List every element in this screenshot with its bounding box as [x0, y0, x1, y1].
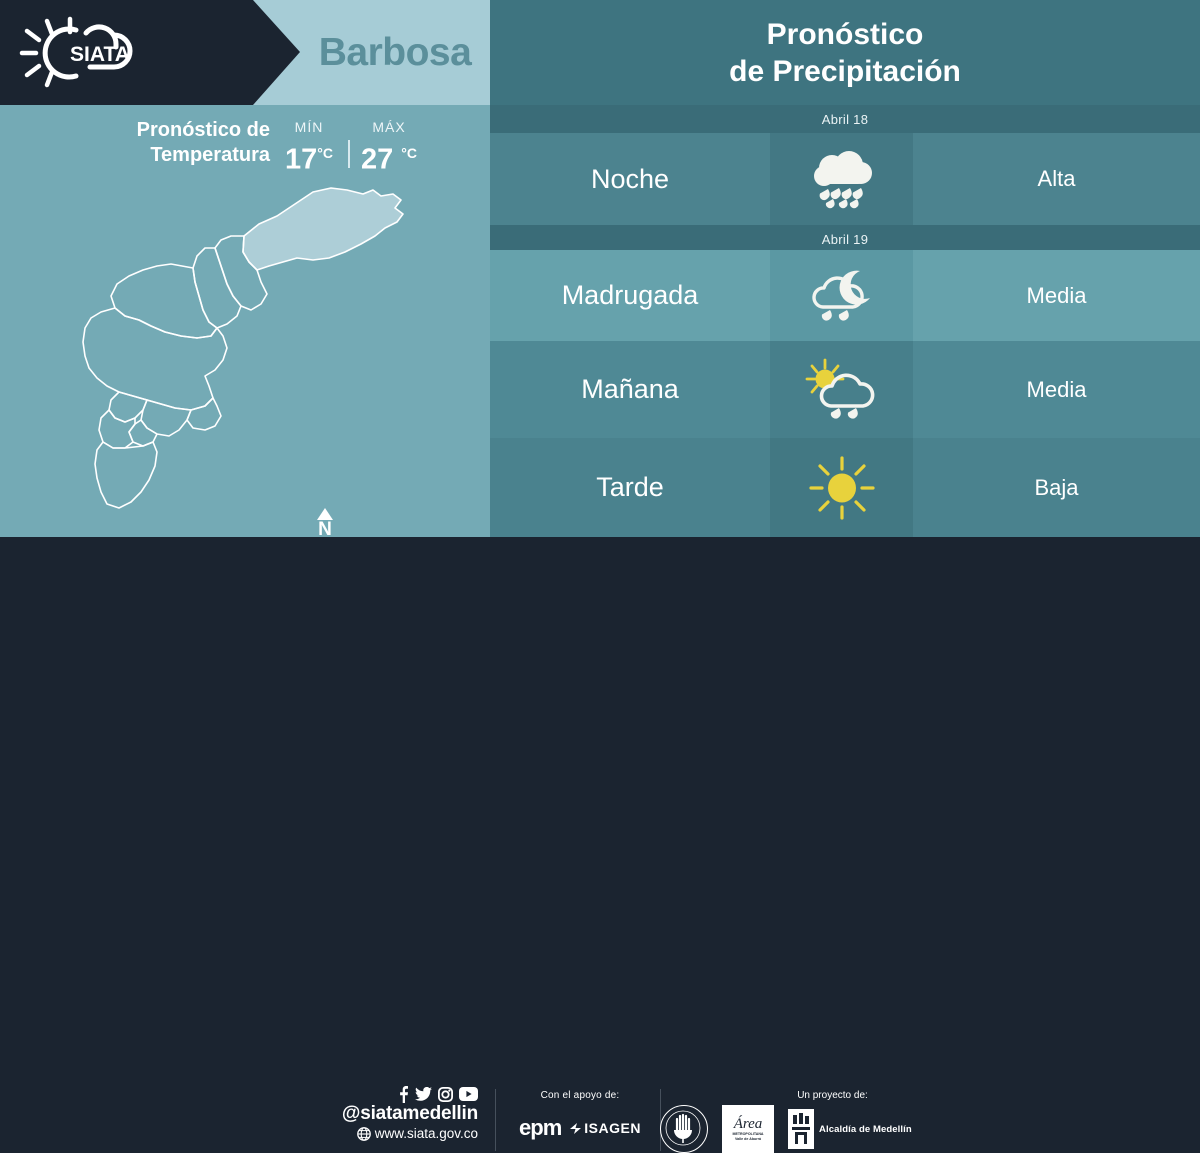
isagen-mark-icon — [569, 1122, 582, 1135]
map-region-envigado — [141, 400, 191, 436]
footer-divider-1 — [495, 1089, 496, 1151]
isagen-text: ISAGEN — [584, 1120, 641, 1136]
project-block: Un proyecto de: Área METROPOLITANA Valle… — [660, 1089, 960, 1103]
date-band-first: Abril 18 — [490, 105, 1200, 133]
forecast-row-manana[interactable]: Mañana — [490, 341, 1200, 438]
city-name: Barbosa — [300, 0, 490, 105]
period-label: Madrugada — [562, 280, 699, 311]
alcaldia-label: Alcaldía de Medellín — [819, 1124, 912, 1135]
temperature-min-label: MÍN — [295, 118, 324, 137]
support-logos: epm ISAGEN — [505, 1115, 655, 1141]
forecast-icon-cell — [770, 133, 913, 225]
temperature-divider — [348, 140, 350, 168]
forecast-row-madrugada[interactable]: Madrugada Media — [490, 250, 1200, 341]
temperature-block: Pronóstico de Temperatura MÍN 17°C MÁX 2… — [0, 118, 490, 180]
temperature-max-value: 27 °C — [361, 137, 417, 176]
seal-art — [661, 1106, 705, 1150]
map-svg — [45, 178, 445, 523]
facebook-icon[interactable] — [398, 1086, 409, 1103]
precip-title-line2: de Precipitación — [729, 55, 961, 88]
forecast-level-cell: Media — [913, 250, 1200, 341]
sun-icon — [807, 455, 877, 521]
forecast-level-cell: Alta — [913, 133, 1200, 225]
infographic-canvas: SIATA Barbosa Pronóstico de Temperatura … — [0, 0, 1200, 630]
period-label: Mañana — [581, 374, 679, 405]
support-block: Con el apoyo de: epm ISAGEN — [505, 1089, 655, 1141]
period-label: Tarde — [596, 472, 664, 503]
social-icons — [318, 1085, 478, 1103]
map-region-medellin — [83, 308, 227, 410]
project-logos: Área METROPOLITANA Valle de Aburrá — [660, 1105, 912, 1153]
sun-cloud-rain-icon — [804, 358, 880, 422]
map-region-barbosa — [243, 188, 403, 270]
left-header-band: SIATA Barbosa — [0, 0, 490, 105]
forecast-period-cell: Tarde — [490, 438, 770, 537]
forecast-period-cell: Mañana — [490, 341, 770, 438]
alcaldia-logo: Alcaldía de Medellín — [788, 1109, 912, 1149]
project-caption: Un proyecto de: — [705, 1089, 960, 1103]
precip-title-line1: Pronóstico — [767, 18, 924, 51]
moon-cloud-rain-icon — [805, 265, 879, 327]
left-panel: SIATA Barbosa Pronóstico de Temperatura … — [0, 0, 490, 537]
temperature-values: MÍN 17°C MÁX 27 °C — [278, 118, 420, 176]
area-metropolitana-logo: Área METROPOLITANA Valle de Aburrá — [722, 1105, 774, 1153]
sun-cloud-icon: SIATA — [14, 13, 149, 93]
precipitation-title: Pronóstico de Precipitación — [729, 16, 961, 90]
forecast-row-tarde[interactable]: Tarde Baj — [490, 438, 1200, 537]
level-label: Media — [1027, 283, 1087, 309]
twitter-icon[interactable] — [415, 1087, 432, 1101]
instagram-icon[interactable] — [438, 1087, 453, 1102]
website-line[interactable]: www.siata.gov.co — [318, 1125, 478, 1142]
min-unit: °C — [317, 145, 333, 161]
siata-logo-text: SIATA — [70, 43, 130, 66]
min-number: 17 — [285, 144, 317, 176]
temperature-max-label: MÁX — [372, 118, 405, 137]
forecast-icon-cell — [770, 250, 913, 341]
forecast-icon-cell — [770, 341, 913, 438]
precipitation-header: Pronóstico de Precipitación — [490, 0, 1200, 105]
north-indicator: N — [317, 508, 333, 538]
area-sub2: Valle de Aburrá — [735, 1137, 761, 1142]
temperature-title-line1: Pronóstico de — [137, 119, 270, 141]
epm-logo: epm — [519, 1115, 561, 1141]
forecast-period-cell: Madrugada — [490, 250, 770, 341]
alcaldia-mark-icon — [788, 1109, 814, 1149]
forecast-icon-cell — [770, 438, 913, 537]
level-label: Media — [1027, 377, 1087, 403]
social-block: @siatamedellin www.siata.gov.co — [318, 1085, 478, 1142]
temperature-title-line2: Temperatura — [150, 144, 270, 166]
level-label: Alta — [1038, 166, 1076, 192]
siata-logo-block: SIATA — [0, 0, 300, 105]
forecast-level-cell: Media — [913, 341, 1200, 438]
rain-cloud-icon — [805, 148, 879, 210]
isagen-logo: ISAGEN — [569, 1120, 641, 1136]
temperature-min: MÍN 17°C — [278, 118, 340, 176]
max-number: 27 — [361, 144, 393, 176]
forecast-row-noche[interactable]: Noche — [490, 133, 1200, 225]
max-unit: °C — [401, 145, 417, 161]
aburra-valley-map: N — [45, 178, 445, 523]
website-url: www.siata.gov.co — [375, 1125, 478, 1142]
map-region-boundary-extra — [187, 398, 221, 430]
forecast-period-cell: Noche — [490, 133, 770, 225]
date-band-second: Abril 19 — [490, 225, 1200, 253]
period-label: Noche — [591, 164, 669, 195]
map-region-copacabana — [193, 248, 241, 328]
map-region-caldas — [95, 442, 157, 508]
universidad-de-antioquia-seal-icon — [660, 1105, 708, 1153]
temperature-max: MÁX 27 °C — [358, 118, 420, 176]
temperature-title: Pronóstico de Temperatura — [60, 118, 270, 168]
footer: @siatamedellin www.siata.gov.co Con el a… — [0, 537, 1200, 630]
social-handle[interactable]: @siatamedellin — [318, 1103, 478, 1125]
right-panel: Pronóstico de Precipitación Abril 18 Noc… — [490, 0, 1200, 537]
temperature-min-value: 17°C — [285, 137, 333, 176]
map-region-bello — [111, 264, 217, 338]
support-caption: Con el apoyo de: — [505, 1089, 655, 1103]
area-name: Área — [734, 1117, 763, 1132]
forecast-level-cell: Baja — [913, 438, 1200, 537]
youtube-icon[interactable] — [459, 1087, 478, 1101]
level-label: Baja — [1034, 475, 1078, 501]
globe-icon — [357, 1127, 371, 1141]
